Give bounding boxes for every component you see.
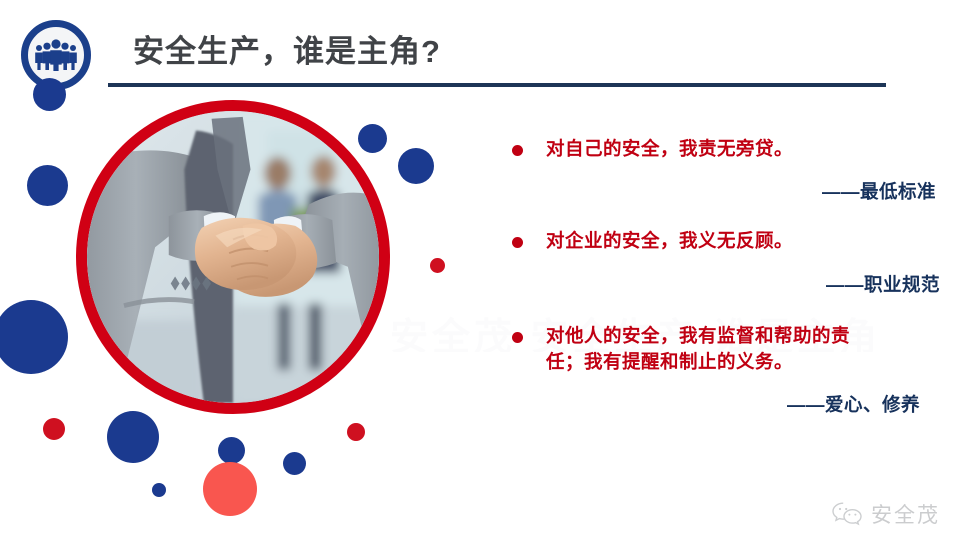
bullet-text-2: 对企业的安全，我义无反顾。 bbox=[546, 228, 793, 254]
bullet-block-3: 对他人的安全，我有监督和帮助的责任；我有提醒和制止的义务。 ——爱心、修养 bbox=[512, 323, 942, 418]
watermark-label: 安全茂 bbox=[871, 499, 940, 529]
deco-circle-left-upper bbox=[27, 165, 68, 206]
bullet-dot-icon bbox=[512, 145, 523, 156]
wechat-watermark: 安全茂 bbox=[831, 499, 940, 529]
deco-circle-bottom-right-small bbox=[283, 452, 306, 475]
deco-circle-top-left bbox=[33, 78, 66, 111]
bullet-attribution-3: ——爱心、修养 bbox=[512, 391, 942, 417]
bullet-dot-icon bbox=[512, 332, 523, 343]
handshake-photo-circle bbox=[76, 100, 390, 414]
bullet-block-2: 对企业的安全，我义无反顾。 ——职业规范 bbox=[512, 228, 942, 296]
deco-circle-left-small-red bbox=[43, 418, 65, 440]
bullet-block-1: 对自己的安全，我责无旁贷。 ——最低标准 bbox=[512, 136, 942, 204]
page-title: 安全生产，谁是主角? bbox=[133, 26, 441, 71]
wechat-icon bbox=[831, 501, 863, 527]
deco-circle-top-right-large bbox=[398, 148, 434, 184]
bullet-attribution-1: ——最低标准 bbox=[512, 178, 942, 204]
deco-circle-bottom-right-red bbox=[347, 423, 365, 441]
deco-circle-bottom-tiny bbox=[152, 483, 166, 497]
bullet-row-2: 对企业的安全，我义无反顾。 bbox=[512, 228, 942, 254]
bullet-text-3: 对他人的安全，我有监督和帮助的责任；我有提醒和制止的义务。 bbox=[546, 323, 886, 376]
deco-circle-top-right-small bbox=[358, 124, 387, 153]
bullet-dot-icon bbox=[512, 237, 523, 248]
deco-circle-left-large bbox=[0, 300, 68, 374]
bullet-row-1: 对自己的安全，我责无旁贷。 bbox=[512, 136, 942, 162]
bullet-text-1: 对自己的安全，我责无旁贷。 bbox=[546, 136, 793, 162]
bullet-row-3: 对他人的安全，我有监督和帮助的责任；我有提醒和制止的义务。 bbox=[512, 323, 942, 376]
deco-circle-right-red bbox=[430, 258, 445, 273]
bullet-list: 对自己的安全，我责无旁贷。 ——最低标准 对企业的安全，我义无反顾。 ——职业规… bbox=[512, 136, 942, 439]
handshake-photo-image bbox=[87, 111, 379, 403]
bullet-attribution-2: ——职业规范 bbox=[512, 271, 942, 297]
deco-circle-bottom-mid bbox=[218, 437, 245, 464]
slide-canvas: 安全茂 安全生产 谁是主角 安全生产，谁是主角? bbox=[0, 0, 960, 540]
deco-circle-bottom-coral bbox=[203, 462, 257, 516]
deco-circle-left-lower bbox=[107, 411, 159, 463]
title-underline-rule bbox=[108, 83, 886, 87]
